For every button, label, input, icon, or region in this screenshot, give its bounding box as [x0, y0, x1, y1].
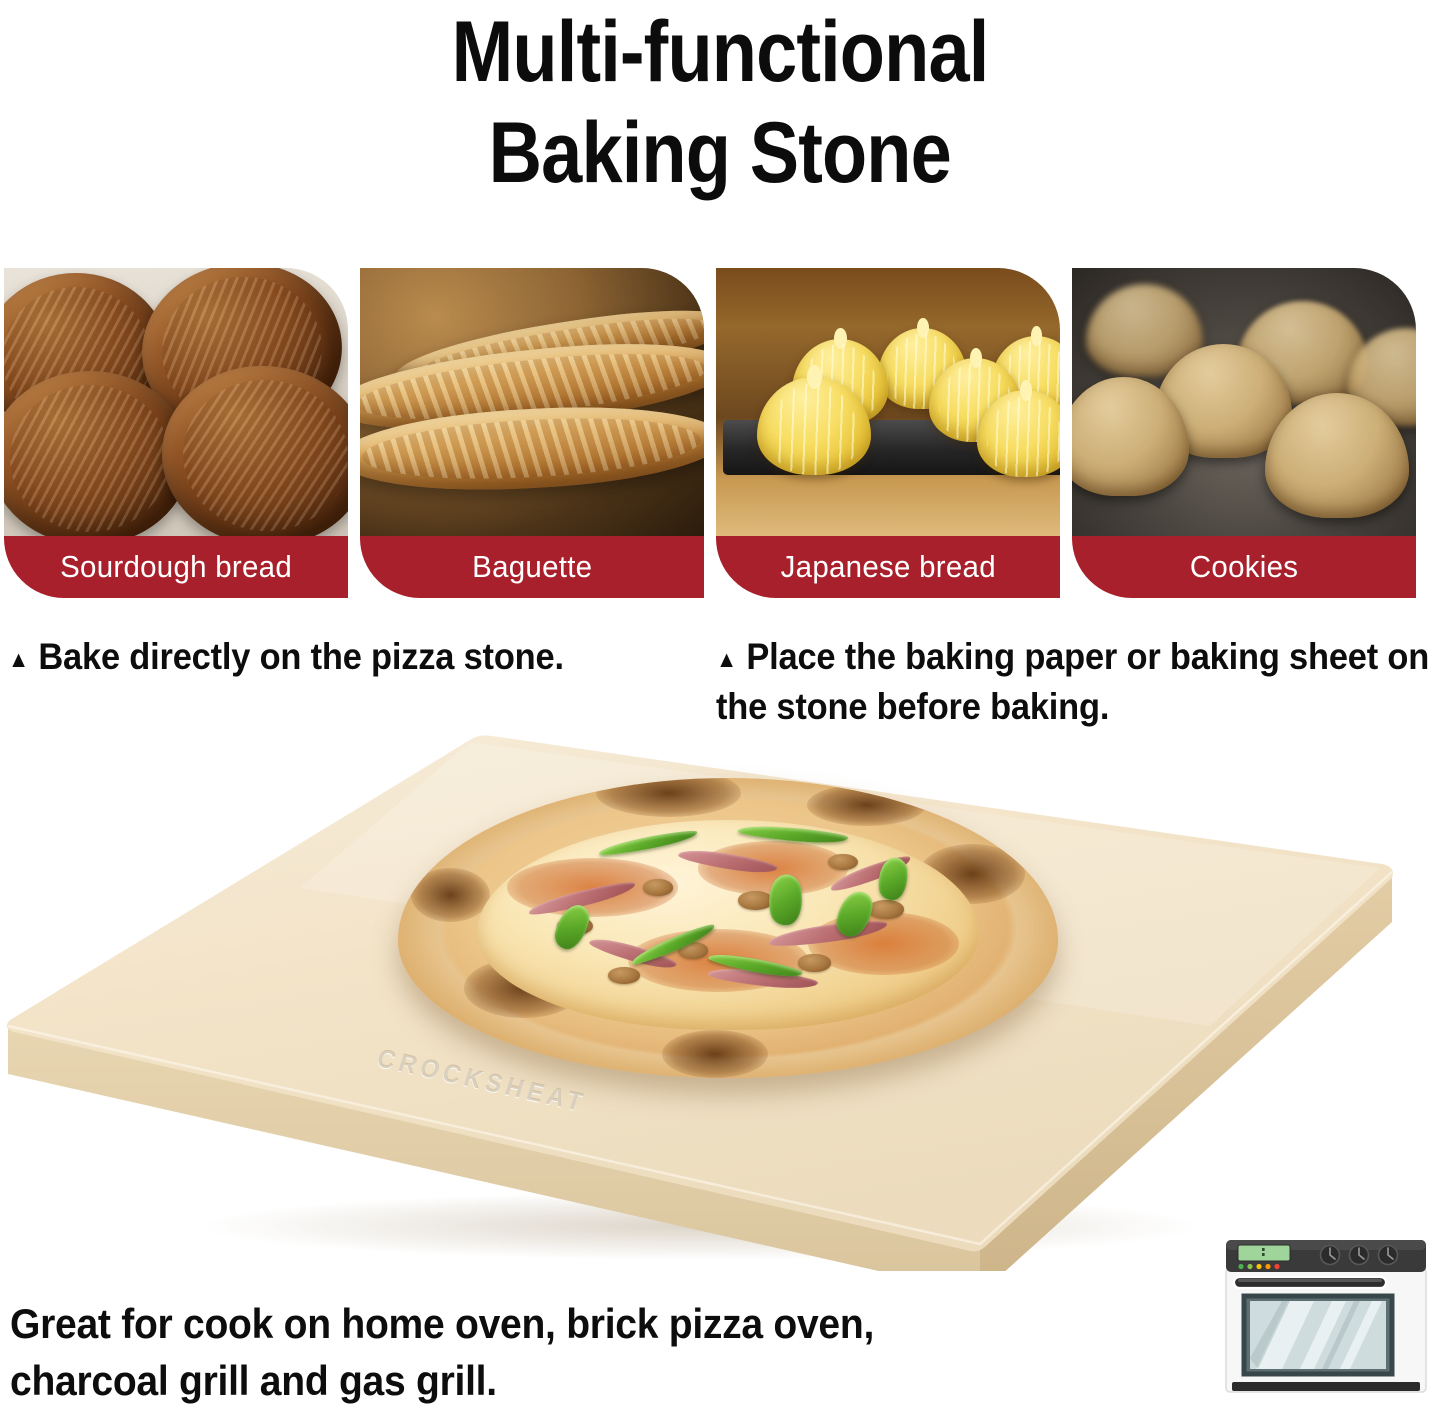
instruction-caption-right-text: Place the baking paper or baking sheet o…	[716, 636, 1429, 727]
baguette-photo	[360, 268, 704, 540]
use-case-label-band: Japanese bread	[716, 536, 1060, 598]
triangle-bullet-icon: ▲	[8, 646, 29, 672]
footer-description: Great for cook on home oven, brick pizza…	[10, 1296, 949, 1409]
use-case-label-text: Sourdough bread	[60, 549, 292, 585]
use-case-card-japanese-bread[interactable]: Japanese bread	[716, 268, 1060, 598]
instruction-caption-right: ▲ Place the baking paper or baking sheet…	[716, 632, 1440, 731]
oven-icon	[1222, 1238, 1430, 1398]
page-title: Multi-functional Baking Stone	[0, 0, 1440, 228]
japanese-bread-photo	[716, 268, 1060, 540]
instruction-caption-left-text: Bake directly on the pizza stone.	[38, 636, 563, 677]
use-case-label-text: Cookies	[1190, 549, 1298, 585]
pizza-on-stone	[398, 778, 1058, 1078]
title-line-1: Multi-functional	[452, 2, 989, 103]
use-case-label-text: Baguette	[472, 549, 592, 585]
sourdough-bread-photo	[4, 268, 348, 540]
use-case-label-text: Japanese bread	[780, 549, 995, 585]
title-line-2: Baking Stone	[489, 103, 951, 204]
use-case-card-sourdough-bread[interactable]: Sourdough bread	[4, 268, 348, 598]
use-case-card-cookies[interactable]: Cookies	[1072, 268, 1416, 598]
cookies-photo	[1072, 268, 1416, 540]
use-case-label-band: Sourdough bread	[4, 536, 348, 598]
use-case-card-baguette[interactable]: Baguette	[360, 268, 704, 598]
use-case-card-row: Sourdough bread Baguette	[0, 268, 1440, 598]
instruction-caption-left: ▲ Bake directly on the pizza stone.	[8, 632, 650, 682]
use-case-label-band: Cookies	[1072, 536, 1416, 598]
pizza-stone-product-image	[0, 726, 1440, 1271]
triangle-bullet-icon: ▲	[716, 646, 737, 672]
use-case-label-band: Baguette	[360, 536, 704, 598]
